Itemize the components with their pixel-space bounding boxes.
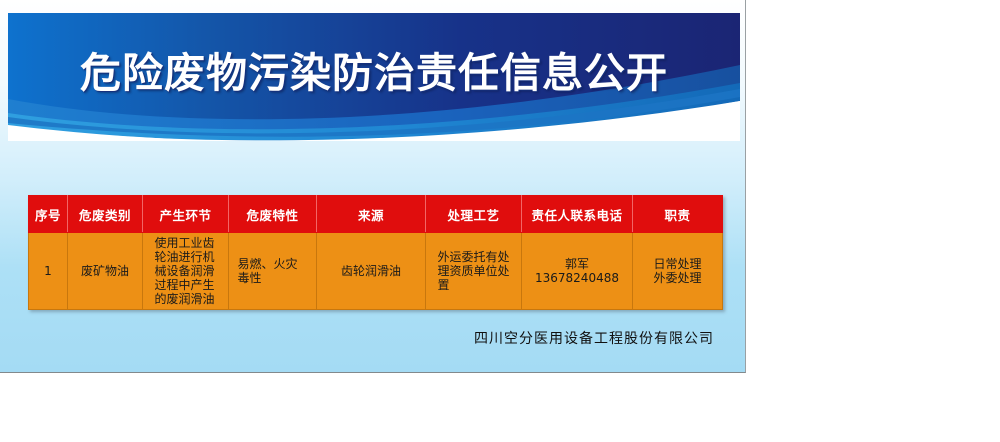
cell-no: 1 — [29, 233, 68, 310]
column-header-source: 来源 — [317, 196, 426, 233]
title-banner: 危险废物污染防治责任信息公开 — [8, 13, 740, 141]
column-header-link: 产生环节 — [143, 196, 229, 233]
cell-contact-name: 郭军 — [525, 257, 629, 271]
column-header-process: 处理工艺 — [426, 196, 522, 233]
cell-category: 废矿物油 — [68, 233, 143, 310]
column-header-no: 序号 — [29, 196, 68, 233]
cell-contact: 郭军 13678240488 — [522, 233, 633, 310]
table-row: 1 废矿物油 使用工业齿轮油进行机械设备润滑过程中产生的废润滑油 易燃、火灾毒性… — [29, 233, 723, 310]
column-header-characteristic: 危废特性 — [229, 196, 317, 233]
poster-canvas: 危险废物污染防治责任信息公开 序号 危废类别 产生环节 危废特性 来源 处理工艺… — [0, 0, 746, 373]
column-header-duty: 职责 — [633, 196, 723, 233]
cell-duty-line2: 外委处理 — [636, 271, 719, 285]
cell-link: 使用工业齿轮油进行机械设备润滑过程中产生的废润滑油 — [143, 233, 229, 310]
cell-contact-phone: 13678240488 — [525, 271, 629, 285]
cell-process: 外运委托有处理资质单位处置 — [426, 233, 522, 310]
cell-duty-line1: 日常处理 — [636, 257, 719, 271]
cell-link-value: 使用工业齿轮油进行机械设备润滑过程中产生的废润滑油 — [155, 236, 217, 306]
cell-characteristic: 易燃、火灾毒性 — [229, 233, 317, 310]
table-header-row: 序号 危废类别 产生环节 危废特性 来源 处理工艺 责任人联系电话 职责 — [29, 196, 723, 233]
cell-characteristic-value: 易燃、火灾毒性 — [238, 257, 308, 285]
cell-duty: 日常处理 外委处理 — [633, 233, 723, 310]
hazardous-waste-table: 序号 危废类别 产生环节 危废特性 来源 处理工艺 责任人联系电话 职责 1 废… — [28, 195, 723, 310]
column-header-category: 危废类别 — [68, 196, 143, 233]
company-name: 四川空分医用设备工程股份有限公司 — [0, 328, 714, 348]
column-header-contact: 责任人联系电话 — [522, 196, 633, 233]
cell-category-value: 废矿物油 — [71, 264, 139, 278]
cell-source: 齿轮润滑油 — [317, 233, 426, 310]
cell-no-value: 1 — [32, 264, 64, 278]
cell-process-value: 外运委托有处理资质单位处置 — [438, 250, 510, 292]
cell-source-value: 齿轮润滑油 — [320, 264, 422, 278]
banner-graphic — [8, 13, 740, 141]
